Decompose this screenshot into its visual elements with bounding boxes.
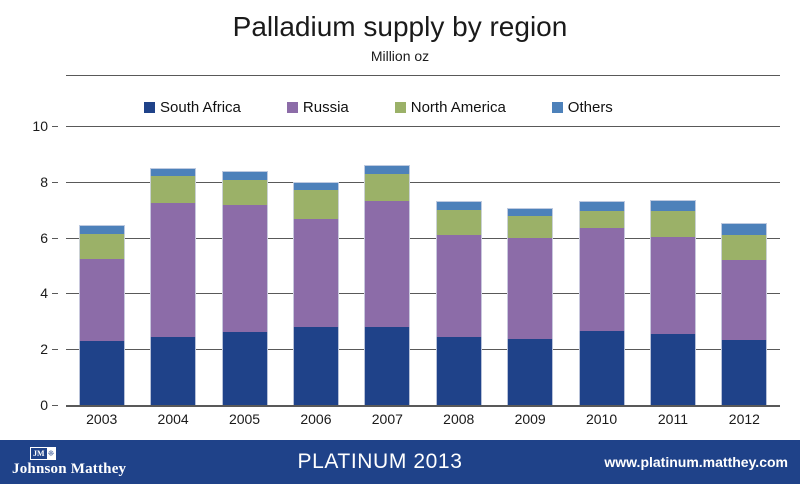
footer-bar: JM ❈ Johnson Matthey PLATINUM 2013 www.p…: [0, 440, 800, 484]
x-axis-tick-label: 2004: [137, 409, 208, 431]
legend-swatch-icon: [552, 102, 563, 113]
footer-company-name: Johnson Matthey: [12, 461, 126, 478]
legend-swatch-icon: [144, 102, 155, 113]
bar-segment[interactable]: [507, 208, 553, 217]
y-axis-tick-label: 6: [40, 230, 48, 246]
bar-slot: [352, 126, 423, 405]
bar-segment[interactable]: [222, 180, 268, 205]
bar-segment[interactable]: [79, 234, 125, 259]
y-axis-tick-label: 0: [40, 397, 48, 413]
footer-publication-title: PLATINUM 2013: [210, 450, 550, 474]
bar-segment[interactable]: [721, 260, 767, 340]
bar-segment[interactable]: [436, 210, 482, 236]
y-axis-tick-mark: [52, 126, 58, 127]
bar-segment[interactable]: [364, 201, 410, 327]
bar-segment[interactable]: [650, 200, 696, 211]
bar-segment[interactable]: [436, 235, 482, 337]
bar-slot: [280, 126, 351, 405]
bar-segment[interactable]: [650, 211, 696, 236]
bar-segment[interactable]: [222, 205, 268, 333]
bar-segment[interactable]: [222, 171, 268, 179]
chart-legend: South AfricaRussiaNorth AmericaOthers: [66, 96, 780, 118]
x-axis-tick-label: 2006: [280, 409, 351, 431]
title-block: Palladium supply by region Million oz: [0, 10, 800, 66]
x-axis-tick-label: 2011: [637, 409, 708, 431]
y-axis-tick-mark: [52, 349, 58, 350]
x-axis-tick-label: 2010: [566, 409, 637, 431]
bar-slot: [66, 126, 137, 405]
stacked-bar[interactable]: [436, 201, 482, 405]
legend-item[interactable]: Others: [552, 99, 613, 116]
y-axis-tick-label: 4: [40, 285, 48, 301]
bar-slot: [494, 126, 565, 405]
bar-segment[interactable]: [293, 190, 339, 219]
bar-segment[interactable]: [721, 223, 767, 236]
stacked-bar[interactable]: [293, 182, 339, 405]
stacked-bar[interactable]: [579, 201, 625, 405]
footer-logo: JM ❈ Johnson Matthey: [0, 447, 210, 478]
legend-swatch-icon: [395, 102, 406, 113]
stacked-bar[interactable]: [79, 225, 125, 405]
x-axis-tick-label: 2005: [209, 409, 280, 431]
chart-subtitle: Million oz: [0, 46, 800, 66]
bar-segment[interactable]: [579, 331, 625, 405]
legend-item-label: Russia: [303, 99, 349, 116]
legend-item[interactable]: North America: [395, 99, 506, 116]
stacked-bar[interactable]: [650, 200, 696, 405]
bar-segment[interactable]: [507, 238, 553, 339]
bar-series-container: [66, 126, 780, 405]
bar-slot: [423, 126, 494, 405]
bar-segment[interactable]: [364, 327, 410, 405]
chart-top-rule: [66, 75, 780, 76]
bar-segment[interactable]: [150, 203, 196, 336]
bar-segment[interactable]: [436, 337, 482, 405]
stacked-bar[interactable]: [721, 223, 767, 405]
stacked-bar[interactable]: [150, 168, 196, 405]
bar-segment[interactable]: [507, 216, 553, 237]
stacked-bar[interactable]: [507, 208, 553, 405]
x-axis: 2003200420052006200720082009201020112012: [66, 409, 780, 431]
bar-segment[interactable]: [79, 225, 125, 234]
jm-logo-initials: JM: [31, 448, 47, 459]
bar-segment[interactable]: [721, 235, 767, 260]
bar-segment[interactable]: [579, 228, 625, 332]
legend-item-label: North America: [411, 99, 506, 116]
bar-segment[interactable]: [150, 337, 196, 405]
bar-segment[interactable]: [293, 327, 339, 405]
bar-segment[interactable]: [650, 237, 696, 334]
bar-segment[interactable]: [79, 259, 125, 341]
bar-segment[interactable]: [79, 341, 125, 405]
y-axis-tick-label: 8: [40, 174, 48, 190]
stacked-bar[interactable]: [222, 171, 268, 405]
y-axis-tick-mark: [52, 293, 58, 294]
bar-segment[interactable]: [364, 165, 410, 173]
jm-logo-glyph-icon: ❈: [47, 448, 56, 459]
x-axis-tick-label: 2003: [66, 409, 137, 431]
bar-segment[interactable]: [436, 201, 482, 209]
bar-segment[interactable]: [650, 334, 696, 405]
y-axis-tick-mark: [52, 182, 58, 183]
bar-slot: [137, 126, 208, 405]
legend-item[interactable]: Russia: [287, 99, 349, 116]
chart-title: Palladium supply by region: [0, 10, 800, 44]
y-axis-tick-mark: [52, 238, 58, 239]
bar-slot: [637, 126, 708, 405]
bar-segment[interactable]: [150, 168, 196, 176]
bar-segment[interactable]: [364, 174, 410, 202]
y-axis-tick-label: 10: [32, 118, 48, 134]
bar-segment[interactable]: [222, 332, 268, 405]
bar-segment[interactable]: [579, 201, 625, 211]
bar-slot: [209, 126, 280, 405]
x-axis-baseline: [66, 405, 780, 407]
bar-slot: [709, 126, 780, 405]
bar-segment[interactable]: [293, 182, 339, 190]
legend-swatch-icon: [287, 102, 298, 113]
legend-item-label: Others: [568, 99, 613, 116]
y-axis-tick-label: 2: [40, 341, 48, 357]
x-axis-tick-label: 2012: [709, 409, 780, 431]
bar-slot: [566, 126, 637, 405]
legend-item-label: South Africa: [160, 99, 241, 116]
bar-segment[interactable]: [507, 339, 553, 405]
bar-segment[interactable]: [579, 211, 625, 228]
stacked-bar[interactable]: [364, 165, 410, 405]
y-axis-tick-mark: [52, 405, 58, 406]
x-axis-tick-label: 2009: [494, 409, 565, 431]
bar-segment[interactable]: [150, 176, 196, 203]
chart-page: Palladium supply by region Million oz So…: [0, 0, 800, 484]
y-axis: 0246810: [0, 126, 58, 405]
x-axis-tick-label: 2007: [352, 409, 423, 431]
x-axis-tick-label: 2008: [423, 409, 494, 431]
bar-segment[interactable]: [721, 340, 767, 405]
jm-logo-icon: JM ❈: [30, 447, 56, 460]
legend-item[interactable]: South Africa: [144, 99, 241, 116]
footer-website-url[interactable]: www.platinum.matthey.com: [550, 454, 800, 470]
bar-segment[interactable]: [293, 219, 339, 327]
